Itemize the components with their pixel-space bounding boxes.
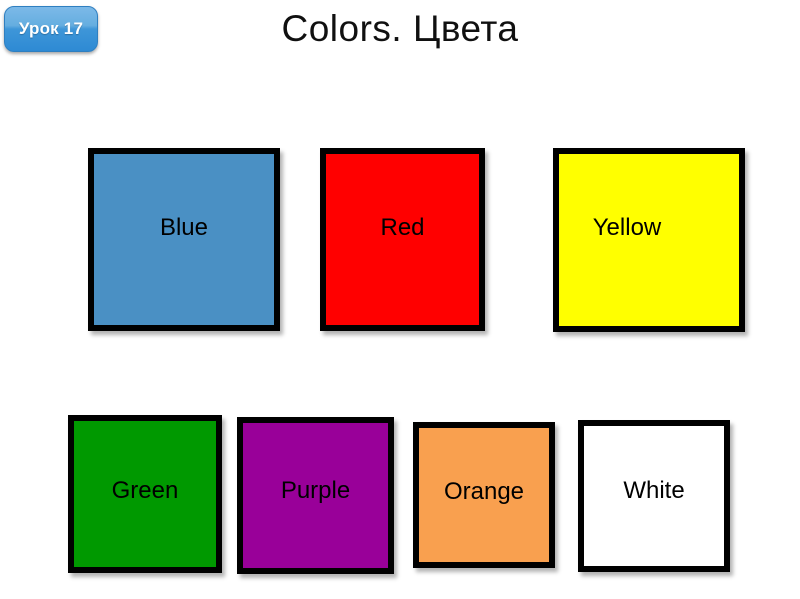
color-swatch-blue[interactable]: Blue xyxy=(88,148,280,331)
page-title: Colors. Цвета xyxy=(120,8,680,50)
color-swatch-label-white: White xyxy=(623,479,684,503)
color-swatch-red[interactable]: Red xyxy=(320,148,485,331)
color-swatch-orange[interactable]: Orange xyxy=(413,422,555,568)
color-swatch-yellow[interactable]: Yellow xyxy=(553,148,745,332)
color-swatch-purple[interactable]: Purple xyxy=(237,417,394,574)
color-swatch-white[interactable]: White xyxy=(578,420,730,572)
color-swatch-label-yellow: Yellow xyxy=(593,216,662,240)
color-swatch-label-red: Red xyxy=(380,216,424,240)
color-swatch-label-green: Green xyxy=(112,479,179,503)
color-swatch-green[interactable]: Green xyxy=(68,415,222,573)
color-swatch-label-blue: Blue xyxy=(160,216,208,240)
color-swatch-label-orange: Orange xyxy=(444,480,524,504)
color-swatch-label-purple: Purple xyxy=(281,479,350,503)
lesson-badge-label: Урок 17 xyxy=(19,19,83,39)
lesson-badge[interactable]: Урок 17 xyxy=(4,6,98,52)
slide-canvas: Урок 17 Colors. Цвета Blue Red Yellow Gr… xyxy=(0,0,800,599)
